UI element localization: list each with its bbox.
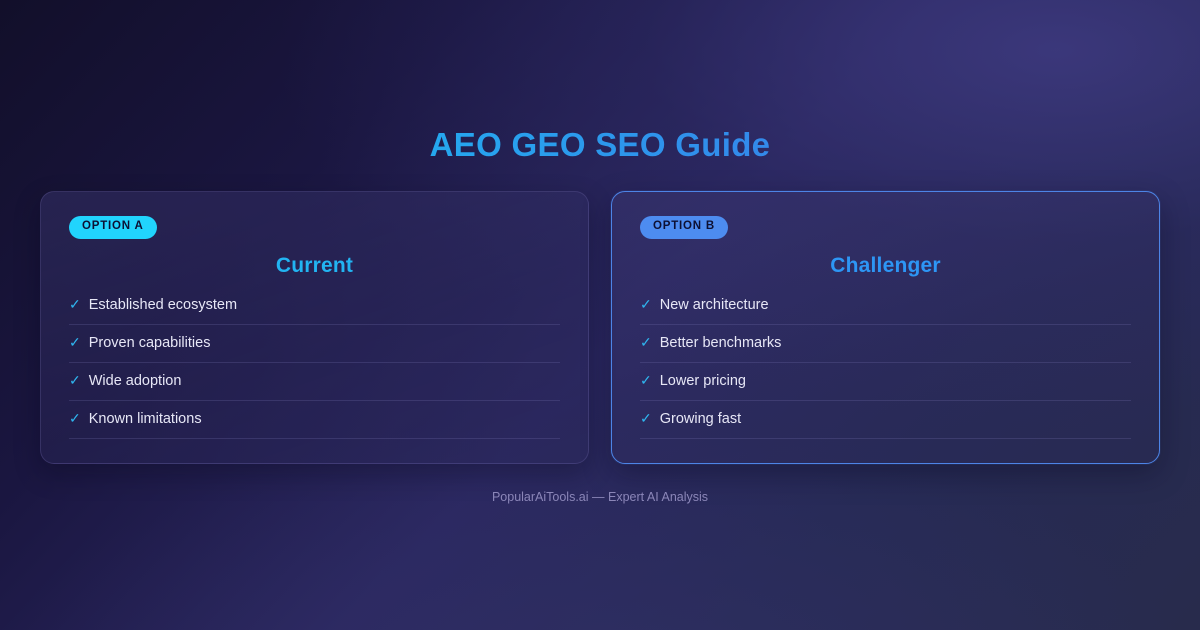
feature-label: New architecture xyxy=(660,297,769,313)
list-item: ✓ New architecture xyxy=(640,297,1131,325)
page-title: AEO GEO SEO Guide xyxy=(0,126,1200,164)
check-icon: ✓ xyxy=(69,335,81,349)
feature-label: Proven capabilities xyxy=(89,335,211,351)
list-item: ✓ Established ecosystem xyxy=(69,297,560,325)
card-heading-current: Current xyxy=(69,254,560,278)
feature-label: Growing fast xyxy=(660,411,741,427)
feature-label: Wide adoption xyxy=(89,373,182,389)
list-item: ✓ Proven capabilities xyxy=(69,335,560,363)
list-item: ✓ Lower pricing xyxy=(640,373,1131,401)
feature-list-option-a: ✓ Established ecosystem ✓ Proven capabil… xyxy=(69,297,560,439)
list-item: ✓ Wide adoption xyxy=(69,373,560,401)
list-item: ✓ Growing fast xyxy=(640,411,1131,439)
feature-label: Established ecosystem xyxy=(89,297,237,313)
comparison-cards: OPTION A Current ✓ Established ecosystem… xyxy=(40,191,1160,464)
feature-list-option-b: ✓ New architecture ✓ Better benchmarks ✓… xyxy=(640,297,1131,439)
check-icon: ✓ xyxy=(69,411,81,425)
comparison-card-option-b: OPTION B Challenger ✓ New architecture ✓… xyxy=(611,191,1160,464)
comparison-graphic: AEO GEO SEO Guide OPTION A Current ✓ Est… xyxy=(0,0,1200,630)
feature-label: Lower pricing xyxy=(660,373,746,389)
check-icon: ✓ xyxy=(69,373,81,387)
option-badge-b: OPTION B xyxy=(640,216,728,239)
feature-label: Known limitations xyxy=(89,411,202,427)
check-icon: ✓ xyxy=(69,297,81,311)
list-item: ✓ Better benchmarks xyxy=(640,335,1131,363)
feature-label: Better benchmarks xyxy=(660,335,782,351)
footer-attribution: PopularAiTools.ai — Expert AI Analysis xyxy=(0,490,1200,504)
comparison-card-option-a: OPTION A Current ✓ Established ecosystem… xyxy=(40,191,589,464)
list-item: ✓ Known limitations xyxy=(69,411,560,439)
check-icon: ✓ xyxy=(640,411,652,425)
option-badge-a: OPTION A xyxy=(69,216,157,239)
check-icon: ✓ xyxy=(640,373,652,387)
check-icon: ✓ xyxy=(640,335,652,349)
card-heading-challenger: Challenger xyxy=(640,254,1131,278)
check-icon: ✓ xyxy=(640,297,652,311)
